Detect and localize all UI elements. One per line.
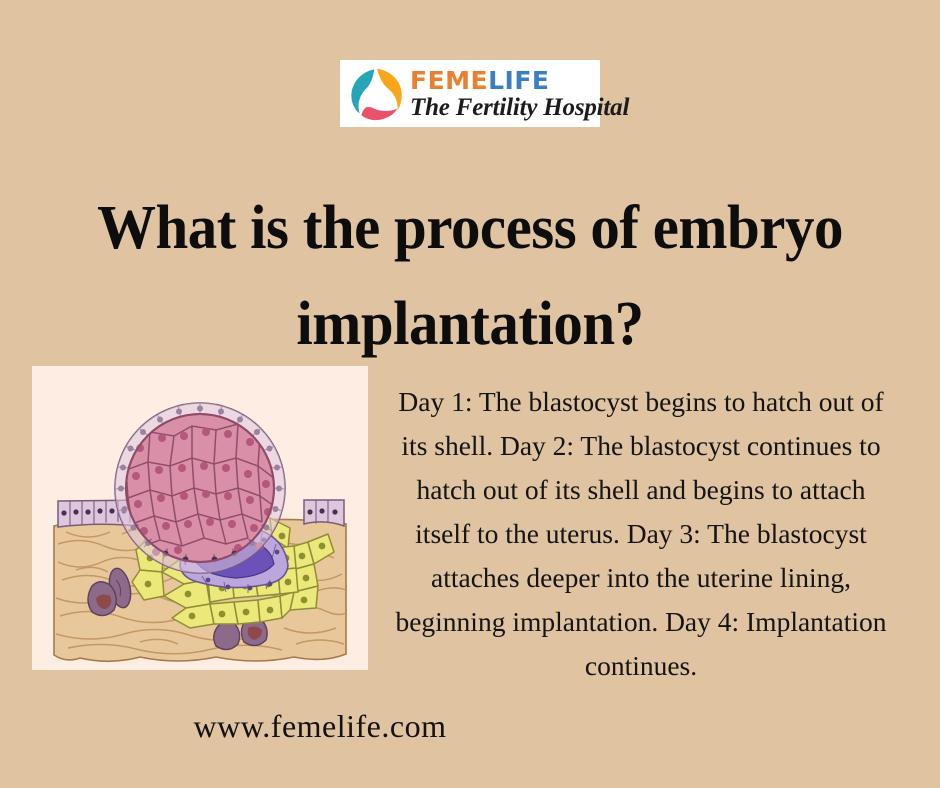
poster-canvas: FEMELIFE The Fertility Hospital What is … (0, 0, 940, 788)
brand-wordmark-feme: FEME (410, 66, 488, 95)
uterine-epithelium-right (304, 500, 344, 526)
brand-wordmark-life: LIFE (488, 66, 549, 95)
brand-tagline: The Fertility Hospital (410, 95, 629, 120)
embryo-implantation-illustration (32, 366, 368, 670)
brand-logo-text: FEMELIFE The Fertility Hospital (410, 68, 629, 120)
page-title: What is the process of embryo implantati… (62, 180, 879, 372)
femelife-triskelion-logo-icon (348, 66, 404, 122)
brand-logo[interactable]: FEMELIFE The Fertility Hospital (340, 60, 600, 127)
website-url[interactable]: www.femelife.com (0, 708, 640, 745)
description-text: Day 1: The blastocyst begins to hatch ou… (386, 380, 896, 688)
brand-wordmark: FEMELIFE (410, 68, 629, 93)
